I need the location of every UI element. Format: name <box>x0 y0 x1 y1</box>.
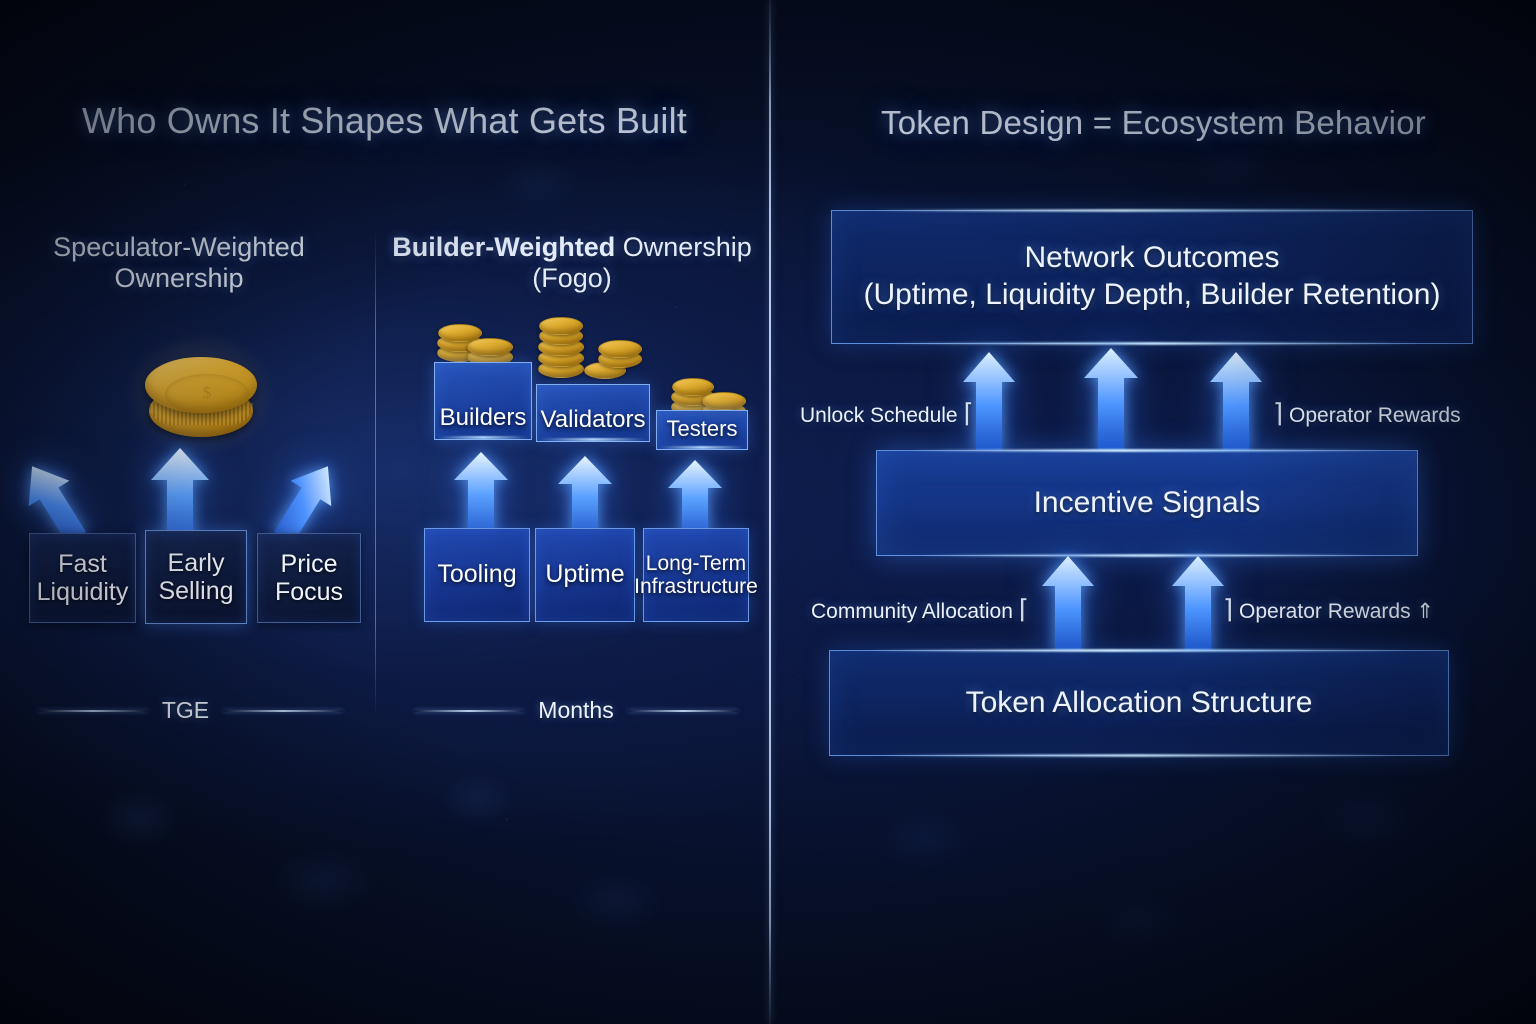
bracket-close-icon: ⌉ <box>1223 594 1233 624</box>
driver-line1: Price <box>281 550 338 578</box>
coin-stack-validators <box>536 316 640 378</box>
timeline-rule-right <box>223 710 343 712</box>
speculator-heading-line2: Ownership <box>14 263 344 294</box>
right-panel: Token Design = Ecosystem Behavior Networ… <box>771 0 1536 1024</box>
bracket-close-icon: ⌉ <box>1273 398 1283 428</box>
platform-box-builders[interactable]: Builders <box>434 362 532 440</box>
arrow-long-term-infrastructure <box>668 460 722 538</box>
platform-label: Testers <box>667 417 738 449</box>
bracket-open-icon: ⌈ <box>963 398 973 428</box>
connector-label-operator-rewards-upper: ⌉ Operator Rewards <box>1273 398 1461 429</box>
driver-line1: Early <box>168 549 225 577</box>
connector-label-community-allocation: Community Allocation ⌈ <box>811 594 1029 625</box>
platform-box-validators[interactable]: Validators <box>536 384 650 442</box>
box-bottom-glow <box>879 754 1398 757</box>
platform-box-testers[interactable]: Testers <box>656 410 748 450</box>
driver-box-price-focus[interactable]: Price Focus <box>257 533 361 623</box>
arrow-community-allocation <box>1042 556 1094 652</box>
speculator-heading: Speculator-Weighted Ownership <box>14 232 344 295</box>
arrow-uptime <box>558 456 612 538</box>
coin-currency-symbol: $ <box>165 383 249 403</box>
builder-heading: Builder-Weighted Ownership (Fogo) <box>392 232 752 295</box>
builder-box-long-term-infrastructure[interactable]: Long-Term Infrastructure <box>643 528 749 622</box>
box-bottom-glow <box>883 342 1421 345</box>
driver-line1: Fast <box>58 550 107 578</box>
timeline-label: TGE <box>162 697 209 724</box>
layer-line2: (Uptime, Liquidity Depth, Builder Retent… <box>864 278 1441 311</box>
box-top-glow <box>909 449 1384 452</box>
left-panel-title: Who Owns It Shapes What Gets Built <box>0 100 769 142</box>
connector-label-text: Community Allocation <box>811 600 1013 623</box>
arrow-operator-rewards-lower <box>1172 556 1224 652</box>
left-panel: Who Owns It Shapes What Gets Built Specu… <box>0 0 769 1024</box>
builder-box-label: Uptime <box>545 561 624 589</box>
left-panel-inner-divider <box>375 228 376 718</box>
timeline-months: Months <box>402 697 750 724</box>
driver-line2: Liquidity <box>37 578 129 606</box>
builder-heading-strong: Builder-Weighted <box>392 232 615 262</box>
platform-underline-builders <box>438 436 528 439</box>
connector-label-text: Operator Rewards ⇑ <box>1239 600 1434 623</box>
timeline-label: Months <box>538 697 613 724</box>
timeline-tge: TGE <box>38 697 343 724</box>
infographic-canvas: Who Owns It Shapes What Gets Built Specu… <box>0 0 1536 1024</box>
builder-box-uptime[interactable]: Uptime <box>535 528 635 622</box>
timeline-rule-right <box>628 710 738 712</box>
box-top-glow <box>870 209 1433 212</box>
layer-box-network-outcomes[interactable]: Network Outcomes (Uptime, Liquidity Dept… <box>831 210 1473 344</box>
layer-box-incentive-signals[interactable]: Incentive Signals <box>876 450 1418 556</box>
layer-line1: Network Outcomes <box>1024 241 1279 274</box>
panel-divider <box>769 0 771 1024</box>
coin-upper: $ <box>145 357 257 413</box>
builder-heading-line1: Builder-Weighted Ownership <box>392 232 752 263</box>
layer-text: Token Allocation Structure <box>966 685 1313 722</box>
connector-label-operator-rewards-lower: ⌉ Operator Rewards ⇑ <box>1223 594 1434 625</box>
builder-heading-line2: (Fogo) <box>392 263 752 294</box>
arrow-operator-rewards-upper <box>1210 352 1262 450</box>
layer-text: Network Outcomes (Uptime, Liquidity Dept… <box>864 240 1441 313</box>
layer-text: Incentive Signals <box>1034 485 1261 522</box>
builder-box-label: Tooling <box>437 561 516 589</box>
arrow-tooling <box>454 452 508 538</box>
bracket-open-icon: ⌈ <box>1019 594 1029 624</box>
platform-label: Validators <box>541 407 646 441</box>
driver-line2: Selling <box>158 577 233 605</box>
connector-label-unlock-schedule: Unlock Schedule ⌈ <box>800 398 974 429</box>
gold-coin-stack-icon: $ <box>139 345 261 449</box>
builder-box-label-line1: Long-Term <box>646 552 746 575</box>
builder-box-tooling[interactable]: Tooling <box>424 528 530 622</box>
speculator-heading-line1: Speculator-Weighted <box>14 232 344 263</box>
connector-label-text: Operator Rewards <box>1289 404 1461 427</box>
driver-line2: Focus <box>275 578 343 606</box>
platform-label: Builders <box>440 405 527 439</box>
coin-face: $ <box>165 374 249 414</box>
arrow-incentive-to-outcomes-center <box>1084 348 1138 450</box>
right-panel-title: Token Design = Ecosystem Behavior <box>771 104 1536 142</box>
layer-box-token-allocation-structure[interactable]: Token Allocation Structure <box>829 650 1449 756</box>
builder-heading-soft: Ownership <box>615 232 752 262</box>
driver-box-early-selling[interactable]: Early Selling <box>145 530 247 624</box>
layer-line1: Incentive Signals <box>1034 486 1261 519</box>
driver-box-fast-liquidity[interactable]: Fast Liquidity <box>29 533 136 623</box>
layer-line1: Token Allocation Structure <box>966 686 1313 719</box>
upper-connector-arrows <box>961 346 1281 450</box>
connector-label-text: Unlock Schedule <box>800 404 958 427</box>
box-top-glow <box>867 649 1411 652</box>
lower-connector-arrows <box>1039 552 1229 652</box>
timeline-rule-left <box>38 710 148 712</box>
timeline-rule-left <box>414 710 524 712</box>
builder-box-label-line2: Infrastructure <box>634 575 758 598</box>
platform-underline-validators <box>540 438 646 441</box>
builder-arrows <box>430 448 760 540</box>
